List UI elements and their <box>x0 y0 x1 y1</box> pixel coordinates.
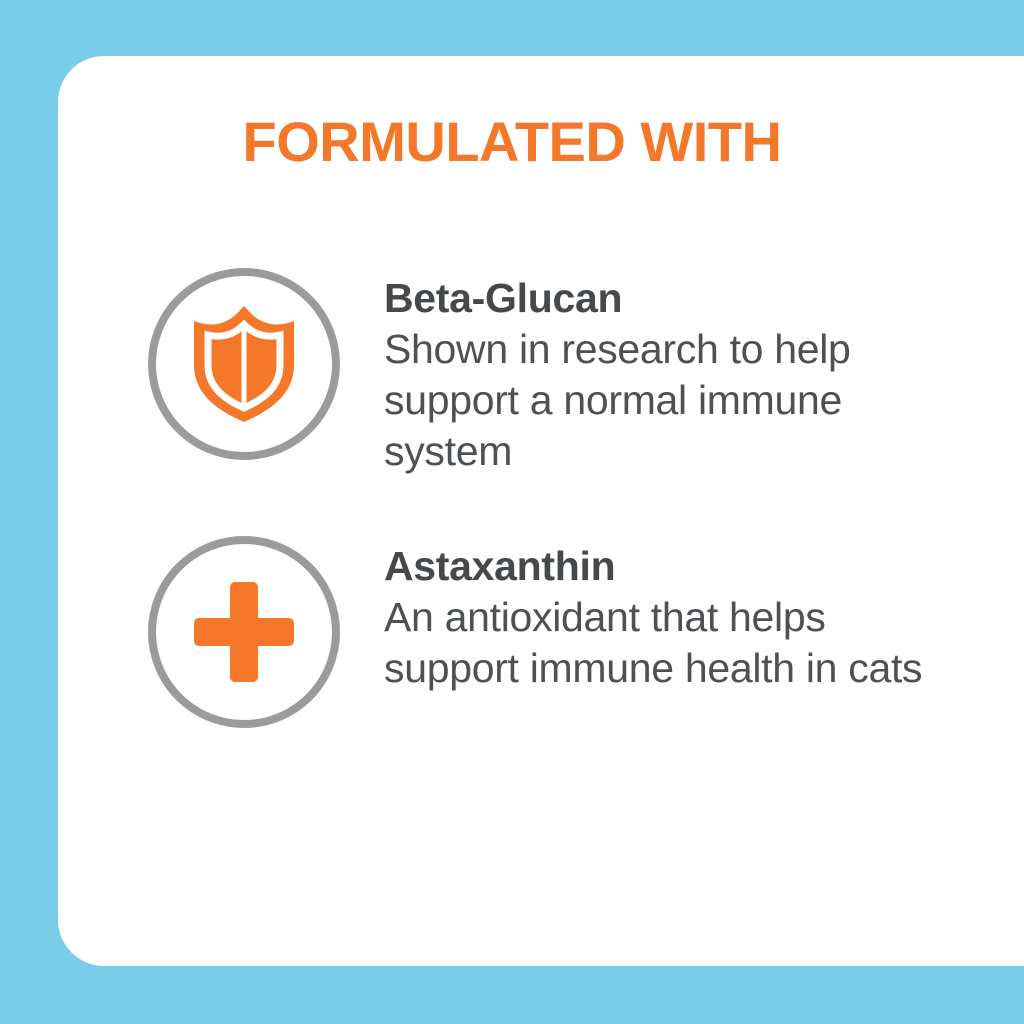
plus-icon <box>188 576 300 688</box>
poster-canvas: FORMULATED WITH Beta-Glucan Show <box>0 0 1024 1024</box>
feature-row-astaxanthin: Astaxanthin An antioxidant that helps su… <box>148 536 944 728</box>
content-card: FORMULATED WITH Beta-Glucan Show <box>58 56 1024 966</box>
feature-description: An antioxidant that helps support immune… <box>384 592 944 694</box>
feature-description: Shown in research to help support a norm… <box>384 324 944 476</box>
feature-title: Astaxanthin <box>384 544 944 590</box>
shield-icon <box>188 305 300 423</box>
page-title: FORMULATED WITH <box>58 114 966 170</box>
plus-icon-circle <box>148 536 340 728</box>
feature-title: Beta-Glucan <box>384 276 944 322</box>
shield-icon-circle <box>148 268 340 460</box>
feature-row-beta-glucan: Beta-Glucan Shown in research to help su… <box>148 268 944 476</box>
feature-text-beta-glucan: Beta-Glucan Shown in research to help su… <box>384 268 944 476</box>
feature-text-astaxanthin: Astaxanthin An antioxidant that helps su… <box>384 536 944 694</box>
